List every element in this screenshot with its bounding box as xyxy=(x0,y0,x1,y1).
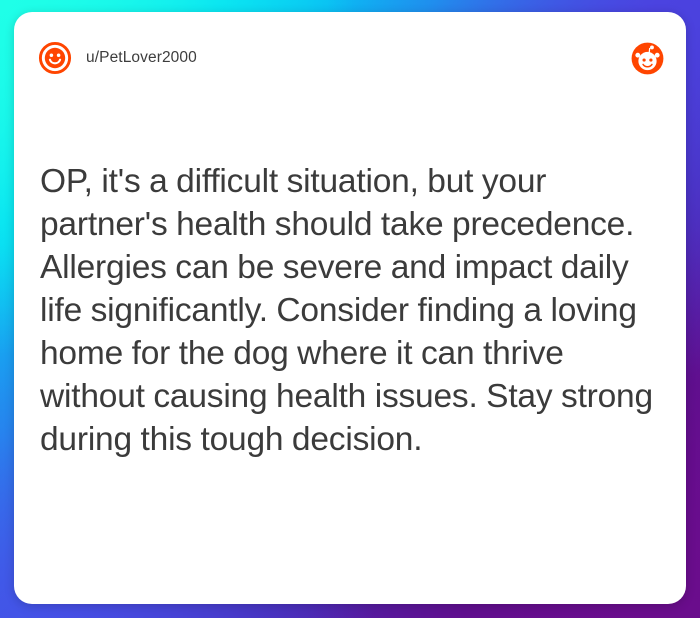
smiley-face-icon xyxy=(38,41,72,75)
card-header: u/PetLover2000 xyxy=(14,12,686,104)
post-body-text: OP, it's a difficult situation, but your… xyxy=(40,160,664,461)
gradient-background: u/PetLover2000 OP, it's a difficult situ… xyxy=(0,0,700,618)
reddit-logo[interactable] xyxy=(631,42,664,75)
reddit-comment-card: u/PetLover2000 OP, it's a difficult situ… xyxy=(14,12,686,604)
username-label: u/PetLover2000 xyxy=(86,49,197,67)
avatar[interactable] xyxy=(38,41,72,75)
reddit-snoo-icon xyxy=(631,42,664,75)
